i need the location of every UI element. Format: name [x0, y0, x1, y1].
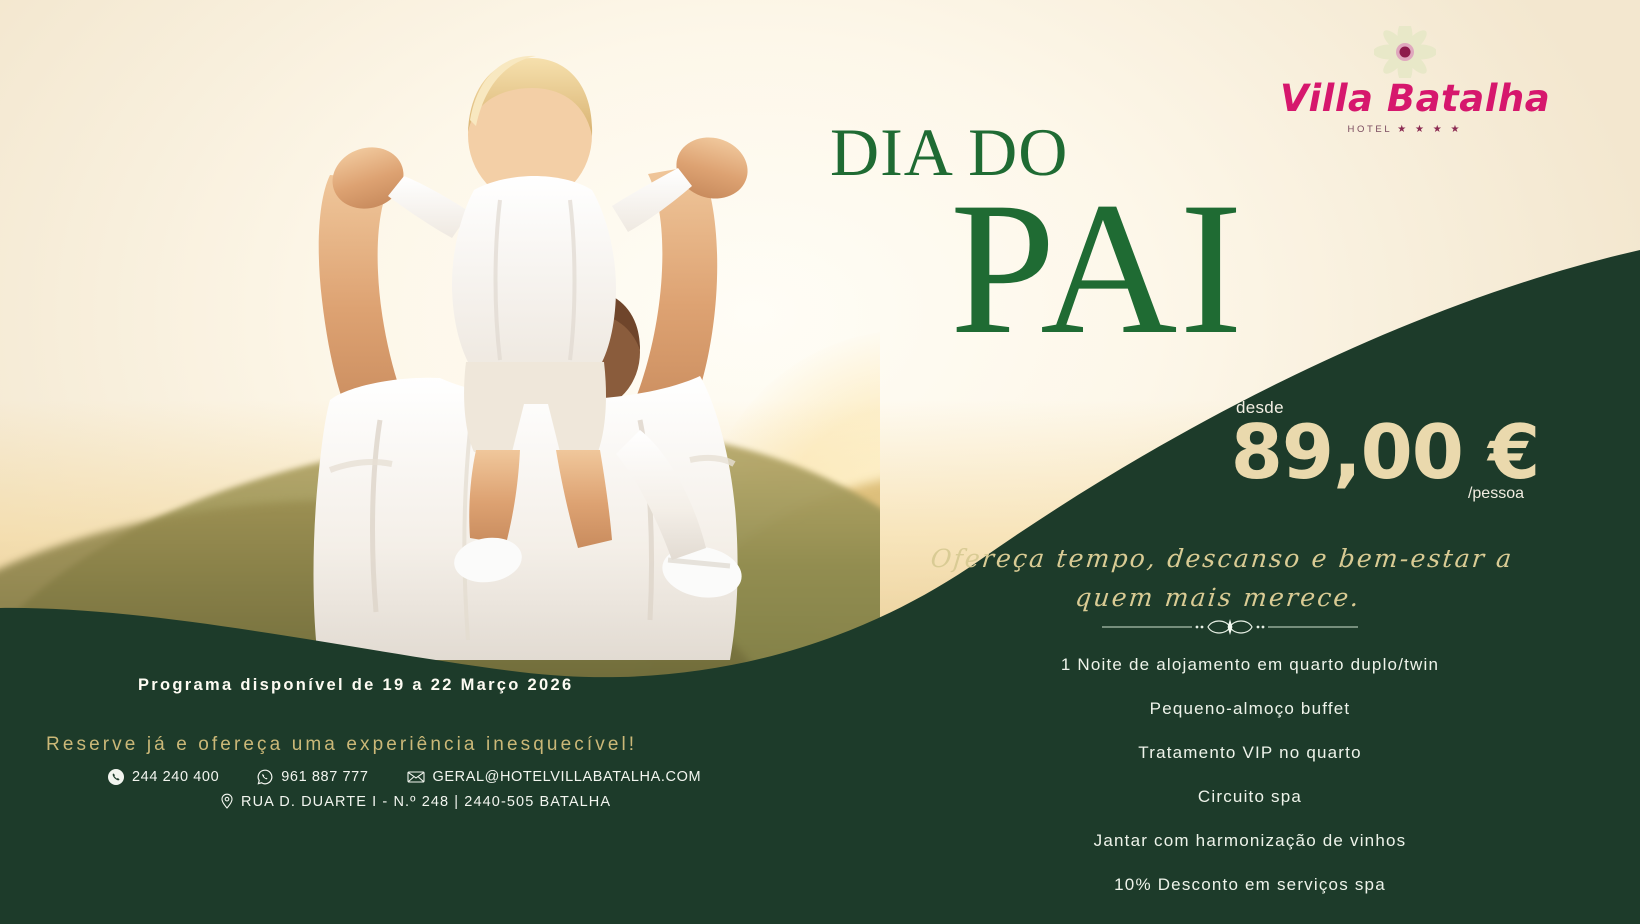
contact-whatsapp-value: 961 887 777	[281, 769, 368, 785]
tagline-line-2: quem mais merece.	[896, 579, 1540, 618]
address-row: RUA D. DUARTE I - N.º 248 | 2440-505 BAT…	[220, 793, 611, 811]
hero-photo	[0, 0, 880, 680]
tagline-block: Ofereça tempo, descanso e bem-estar a qu…	[896, 540, 1544, 618]
list-item: 1 Noite de alojamento em quarto duplo/tw…	[1000, 655, 1500, 675]
program-availability: Programa disponível de 19 a 22 Março 202…	[138, 676, 573, 695]
father-and-child-figure	[0, 0, 880, 680]
promo-banner: Villa Batalha HOTEL ★ ★ ★ ★ DIA DO PAI d…	[0, 0, 1640, 924]
phone-icon	[108, 769, 124, 785]
price-block: desde 89,00 € /pessoa	[1230, 398, 1540, 503]
whatsapp-icon	[257, 769, 273, 785]
inclusions-list: 1 Noite de alojamento em quarto duplo/tw…	[1000, 655, 1500, 919]
ornament-icon	[1100, 618, 1360, 636]
list-item: 10% Desconto em serviços spa	[1000, 875, 1500, 895]
headline-block: DIA DO PAI	[830, 120, 1350, 343]
tagline-line-1: Ofereça tempo, descanso e bem-estar a	[900, 540, 1544, 579]
ornament-divider	[1100, 618, 1360, 636]
email-icon	[407, 770, 425, 784]
contact-email-value: GERAL@HOTELVILLABATALHA.COM	[433, 769, 702, 785]
location-pin-icon	[220, 793, 234, 811]
headline-line-2: PAI	[950, 195, 1350, 343]
contact-phone[interactable]: 244 240 400	[108, 769, 219, 785]
list-item: Tratamento VIP no quarto	[1000, 743, 1500, 763]
list-item: Circuito spa	[1000, 787, 1500, 807]
cta-text: Reserve já e ofereça uma experiência ine…	[46, 734, 637, 756]
contact-whatsapp[interactable]: 961 887 777	[257, 769, 368, 785]
list-item: Pequeno-almoço buffet	[1000, 699, 1500, 719]
price-amount: 89,00 €	[1230, 418, 1540, 487]
contact-email[interactable]: GERAL@HOTELVILLABATALHA.COM	[407, 769, 702, 785]
brand-stars: ★ ★ ★ ★	[1397, 124, 1462, 135]
contact-row: 244 240 400 961 887 777 GERAL@HOTELVILLA…	[108, 769, 701, 785]
contact-phone-value: 244 240 400	[132, 769, 219, 785]
brand-logo[interactable]: Villa Batalha HOTEL ★ ★ ★ ★	[1280, 26, 1530, 135]
flower-icon	[1374, 26, 1436, 78]
list-item: Jantar com harmonização de vinhos	[1000, 831, 1500, 851]
brand-name: Villa Batalha	[1280, 80, 1530, 117]
address-value: RUA D. DUARTE I - N.º 248 | 2440-505 BAT…	[241, 794, 611, 810]
brand-category: HOTEL	[1348, 124, 1393, 135]
